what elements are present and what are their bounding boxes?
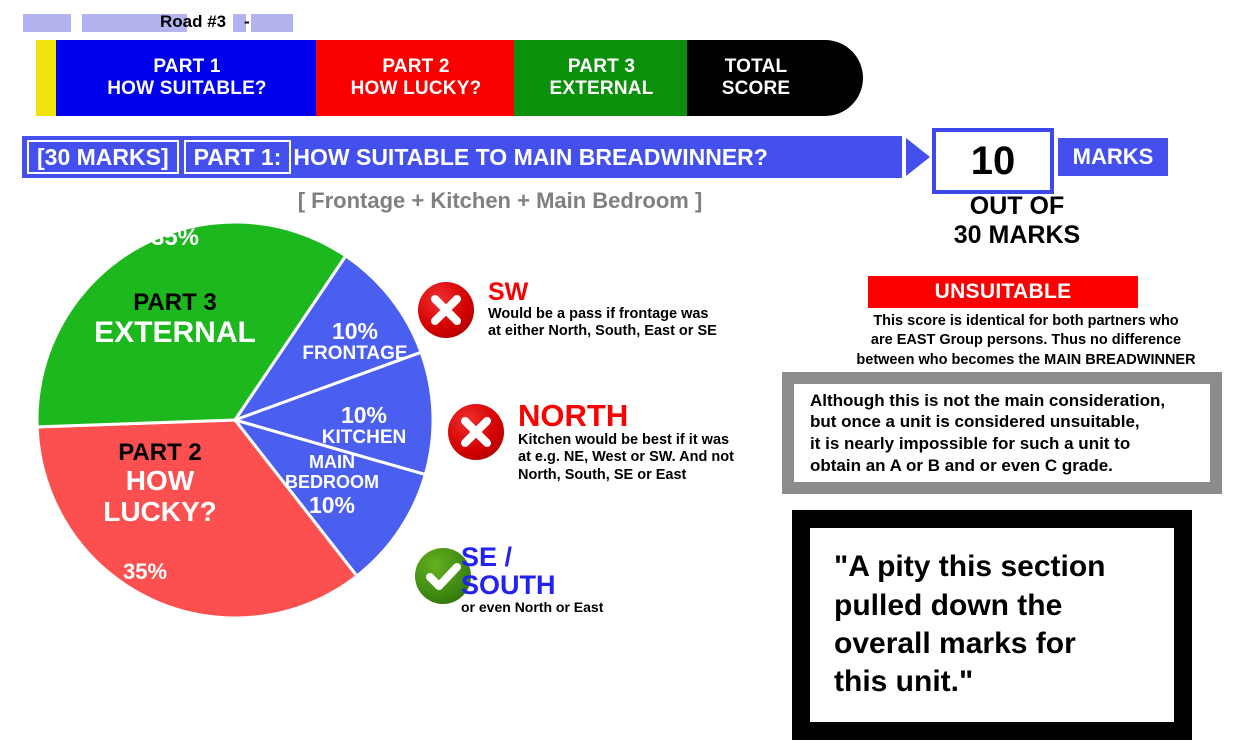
nav-part1-line1: PART 1 — [153, 56, 220, 78]
out-of-marks: OUT OF 30 MARKS — [932, 192, 1102, 250]
quote-inner: "A pity this section pulled down the ove… — [810, 528, 1174, 722]
annotation-kitchen-title: NORTH — [518, 400, 788, 432]
annotation-frontage-body: SW Would be a pass if frontage was at ei… — [488, 280, 768, 341]
gray-note-line4: obtain an A or B and or even C grade. — [810, 455, 1165, 477]
annotation-main-bedroom-body: SE / SOUTH or even North or East — [461, 544, 751, 616]
marks-tag: [30 MARKS] — [27, 140, 179, 174]
redaction-block-1 — [23, 14, 71, 32]
annotation-bedroom-desc1: or even North or East — [461, 599, 751, 616]
annotation-kitchen-desc3: North, South, SE or East — [518, 467, 788, 485]
pie-frontage-name: FRONTAGE — [290, 344, 420, 365]
pie-bedroom-name1: MAIN — [272, 453, 392, 473]
cross-icon-glyph — [418, 282, 474, 338]
score-box: 10 — [932, 128, 1054, 194]
pie-label-part3: 35% — [60, 225, 290, 251]
pie-label-frontage: 10% FRONTAGE — [290, 319, 420, 365]
marks-badge: MARKS — [1056, 136, 1170, 178]
nav-part1-line2: HOW SUITABLE? — [107, 78, 267, 100]
pie-frontage-pct: 10% — [290, 319, 420, 344]
nav-total-line1: TOTAL — [725, 56, 788, 78]
nav-item-part3[interactable]: PART 3 EXTERNAL — [514, 40, 689, 116]
pie-part2-mid: HOW — [60, 466, 260, 497]
section-banner: [30 MARKS] PART 1: HOW SUITABLE TO MAIN … — [22, 136, 902, 178]
nav-part2-line2: HOW LUCKY? — [351, 78, 482, 100]
pie-chart: 35% PART 3 EXTERNAL PART 2 HOW LUCKY? 35… — [0, 195, 460, 645]
gray-note-inner: Although this is not the main considerat… — [794, 384, 1210, 482]
arrow-right-icon — [906, 138, 930, 176]
pie-label-part2-name: PART 2 HOW LUCKY? — [60, 440, 260, 528]
out-of-line2: 30 MARKS — [932, 221, 1102, 250]
marks-badge-label: MARKS — [1073, 144, 1154, 170]
gray-note-text: Although this is not the main considerat… — [794, 390, 1165, 477]
section-nav-bar: PART 1 HOW SUITABLE? PART 2 HOW LUCKY? P… — [20, 40, 825, 116]
nav-total-line2: SCORE — [722, 78, 791, 100]
annotation-main-bedroom: SE / SOUTH or even North or East — [415, 548, 755, 638]
road-label: Road #3 — [160, 12, 226, 32]
status-badge-unsuitable: UNSUITABLE — [868, 276, 1138, 308]
annotation-frontage: SW Would be a pass if frontage was at ei… — [418, 282, 768, 362]
verdict-note-line2: are EAST Group persons. Thus no differen… — [826, 331, 1226, 350]
score-value: 10 — [971, 141, 1016, 181]
nav-item-part2[interactable]: PART 2 HOW LUCKY? — [316, 40, 516, 116]
quote-line1: "A pity this section — [834, 548, 1105, 586]
gray-note-line1: Although this is not the main considerat… — [810, 390, 1165, 412]
banner-question: HOW SUITABLE TO MAIN BREADWINNER? — [293, 144, 767, 171]
pie-kitchen-pct: 10% — [300, 403, 428, 428]
pie-part2-top: PART 2 — [60, 440, 260, 466]
quote-line2: pulled down the — [834, 587, 1105, 625]
pie-part2-pct: 35% — [123, 559, 167, 584]
status-badge-label: UNSUITABLE — [935, 280, 1072, 304]
gray-note-line3: it is nearly impossible for such a unit … — [810, 433, 1165, 455]
pie-bedroom-pct: 10% — [272, 493, 392, 518]
pie-label-kitchen: 10% KITCHEN — [300, 403, 428, 449]
nav-label-part2: PART 2 HOW LUCKY? — [316, 40, 516, 116]
nav-label-part1: PART 1 HOW SUITABLE? — [56, 40, 318, 116]
pie-label-part3-name: PART 3 EXTERNAL — [55, 290, 295, 349]
pie-part3-top: PART 3 — [55, 290, 295, 316]
nav-label-total: TOTAL SCORE — [687, 40, 825, 116]
annotation-kitchen-desc2: at e.g. NE, West or SW. And not — [518, 449, 788, 467]
quote-line3: overall marks for — [834, 625, 1105, 663]
nav-part3-line2: EXTERNAL — [550, 78, 654, 100]
verdict-note-line1: This score is identical for both partner… — [826, 312, 1226, 331]
annotation-frontage-desc1: Would be a pass if frontage was — [488, 306, 768, 324]
annotation-frontage-title: SW — [488, 280, 768, 306]
quote-text: "A pity this section pulled down the ove… — [810, 548, 1115, 702]
nav-label-part3: PART 3 EXTERNAL — [514, 40, 689, 116]
pie-kitchen-name: KITCHEN — [300, 428, 428, 449]
cross-icon — [418, 282, 474, 338]
nav-item-total-score[interactable]: TOTAL SCORE — [687, 40, 825, 116]
quote-line4: this unit." — [834, 663, 1105, 701]
verdict-note-line3: between who becomes the MAIN BREADWINNER — [826, 351, 1226, 370]
gray-note-line2: but once a unit is considered unsuitable… — [810, 411, 1165, 433]
pie-bedroom-name2: BEDROOM — [272, 473, 392, 493]
cross-icon-glyph — [448, 404, 504, 460]
nav-part2-line1: PART 2 — [382, 56, 449, 78]
annotation-kitchen-desc1: Kitchen would be best if it was — [518, 432, 788, 450]
redaction-block-4 — [251, 14, 293, 32]
nav-part3-line1: PART 3 — [568, 56, 635, 78]
dash-separator: - — [244, 12, 250, 32]
pie-part3-bot: EXTERNAL — [55, 316, 295, 349]
pie-part3-pct: 35% — [151, 224, 199, 251]
quote-box: "A pity this section pulled down the ove… — [792, 510, 1192, 740]
pie-label-main-bedroom: MAIN BEDROOM 10% — [272, 453, 392, 518]
annotation-bedroom-title2: SOUTH — [461, 572, 751, 600]
gray-note-box: Although this is not the main considerat… — [782, 372, 1222, 494]
annotation-kitchen-body: NORTH Kitchen would be best if it was at… — [518, 400, 788, 485]
out-of-line1: OUT OF — [932, 192, 1102, 221]
verdict-note: This score is identical for both partner… — [826, 312, 1226, 370]
nav-item-part1[interactable]: PART 1 HOW SUITABLE? — [56, 40, 318, 116]
part-tag: PART 1: — [184, 140, 292, 174]
pie-part2-bot: LUCKY? — [60, 497, 260, 528]
annotation-frontage-desc2: at either North, South, East or SE — [488, 323, 768, 341]
annotation-kitchen: NORTH Kitchen would be best if it was at… — [448, 404, 788, 494]
pie-label-part2-pct: 35% — [90, 560, 200, 584]
redacted-title-row: Road #3 - — [20, 12, 320, 36]
annotation-bedroom-title1: SE / — [461, 544, 751, 572]
cross-icon — [448, 404, 504, 460]
